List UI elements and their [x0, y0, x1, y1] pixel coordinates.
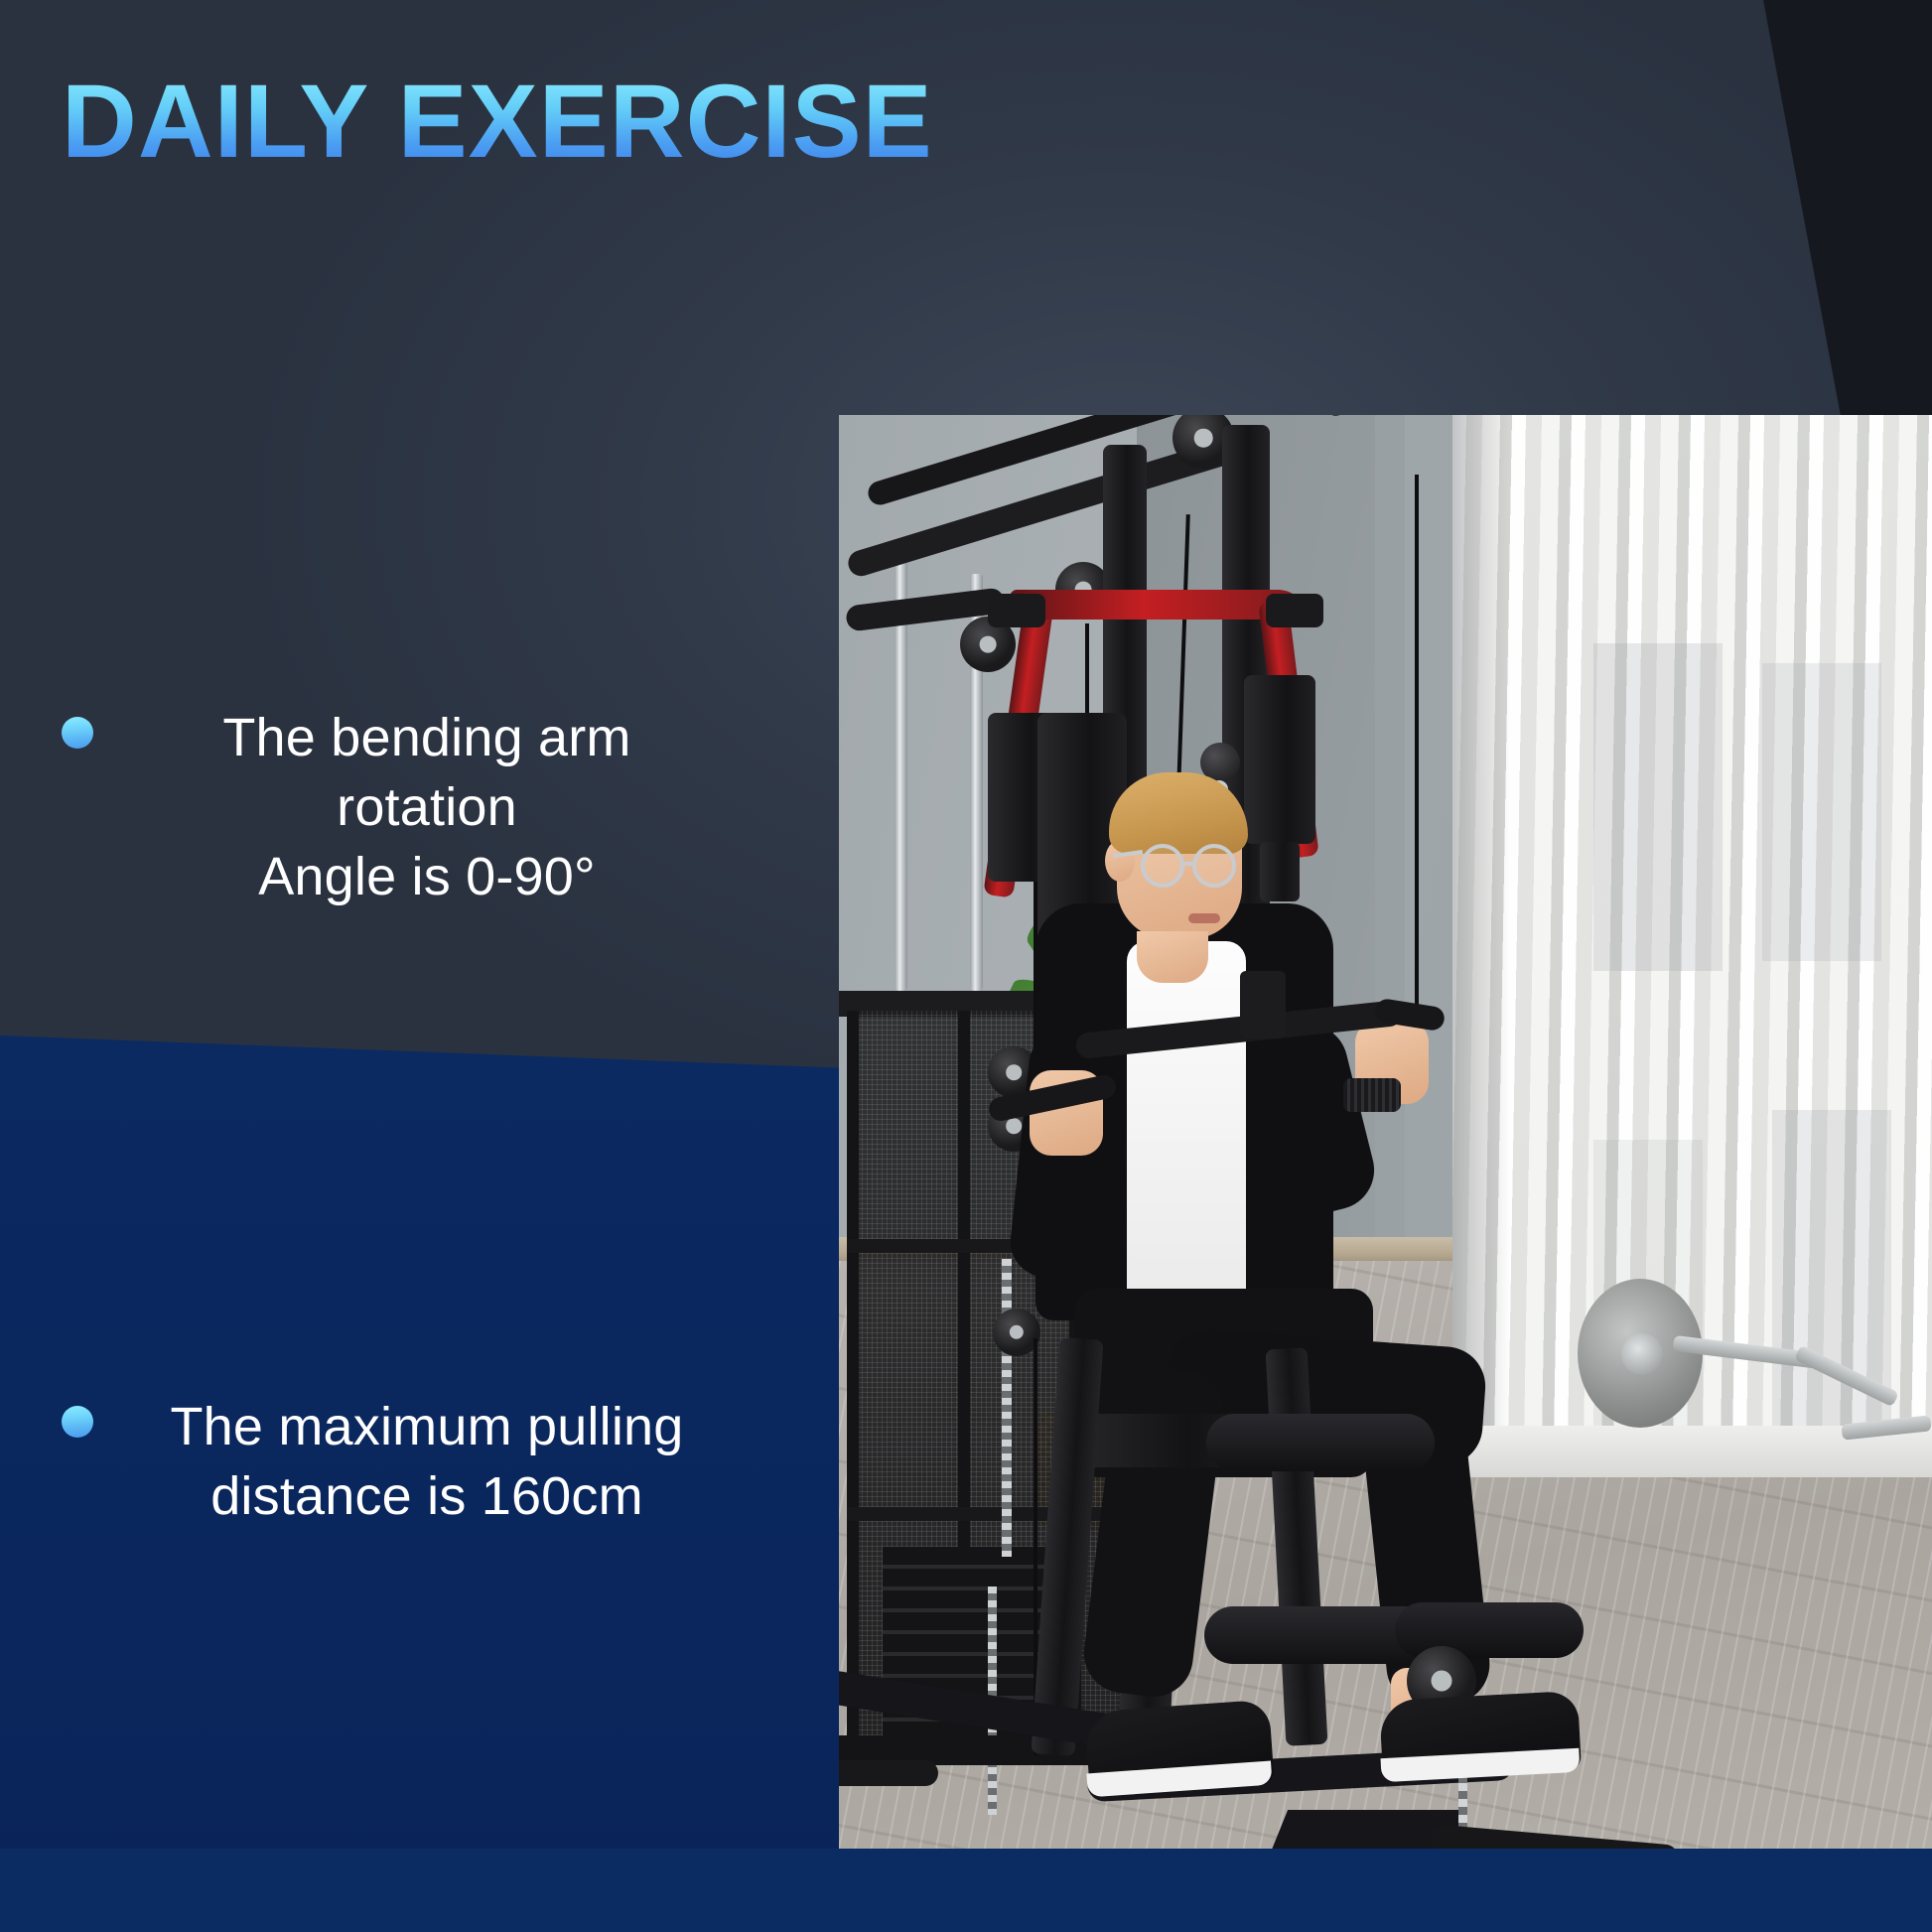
window-pane — [1762, 663, 1881, 961]
background-navy-footer — [0, 1849, 1932, 1932]
feature-line-2: distance is 160cm — [210, 1466, 643, 1526]
feature-line-2: Angle is 0-90° — [258, 847, 596, 906]
cable — [1415, 475, 1419, 1080]
leg-roller-upper — [1206, 1414, 1435, 1471]
dot-icon — [62, 717, 93, 749]
person-neck — [1137, 931, 1208, 983]
leg-roller-outer — [1395, 1602, 1584, 1658]
person-mouth — [1188, 913, 1220, 923]
feature-bullet-rotation-angle: The bending arm rotation Angle is 0-90° — [62, 703, 715, 912]
feature-bullet-pulling-distance: The maximum pulling distance is 160cm — [62, 1392, 715, 1531]
person-tshirt — [1127, 941, 1246, 1328]
feature-bullet-text: The maximum pulling distance is 160cm — [139, 1392, 715, 1531]
glasses-lens-left — [1141, 844, 1184, 888]
arm-pad-stub — [1260, 842, 1300, 901]
arm-bracket — [1266, 594, 1323, 627]
glasses-bridge — [1182, 862, 1196, 866]
glasses-lens-right — [1192, 844, 1236, 888]
window-pane — [1593, 643, 1723, 971]
cage-post — [847, 1011, 859, 1765]
curtain-shadow — [1452, 415, 1510, 1467]
page-title: DAILY EXERCISE — [62, 69, 933, 174]
product-photo — [839, 415, 1932, 1849]
weight-plate-hub — [1621, 1333, 1663, 1375]
chain — [1002, 1259, 1012, 1557]
feature-line-1: The bending arm rotation — [222, 708, 630, 837]
base-foot — [839, 1760, 938, 1786]
smartwatch — [1343, 1078, 1401, 1112]
feature-bullet-text: The bending arm rotation Angle is 0-90° — [139, 703, 715, 912]
arm-bracket — [988, 594, 1045, 627]
daily-exercise-banner: DAILY EXERCISE The bending arm rotation … — [0, 0, 1932, 1932]
arm-pad-right — [1244, 675, 1315, 844]
press-bar-bracket — [1240, 971, 1286, 1038]
feature-line-1: The maximum pulling — [171, 1397, 684, 1456]
dot-icon — [62, 1406, 93, 1438]
